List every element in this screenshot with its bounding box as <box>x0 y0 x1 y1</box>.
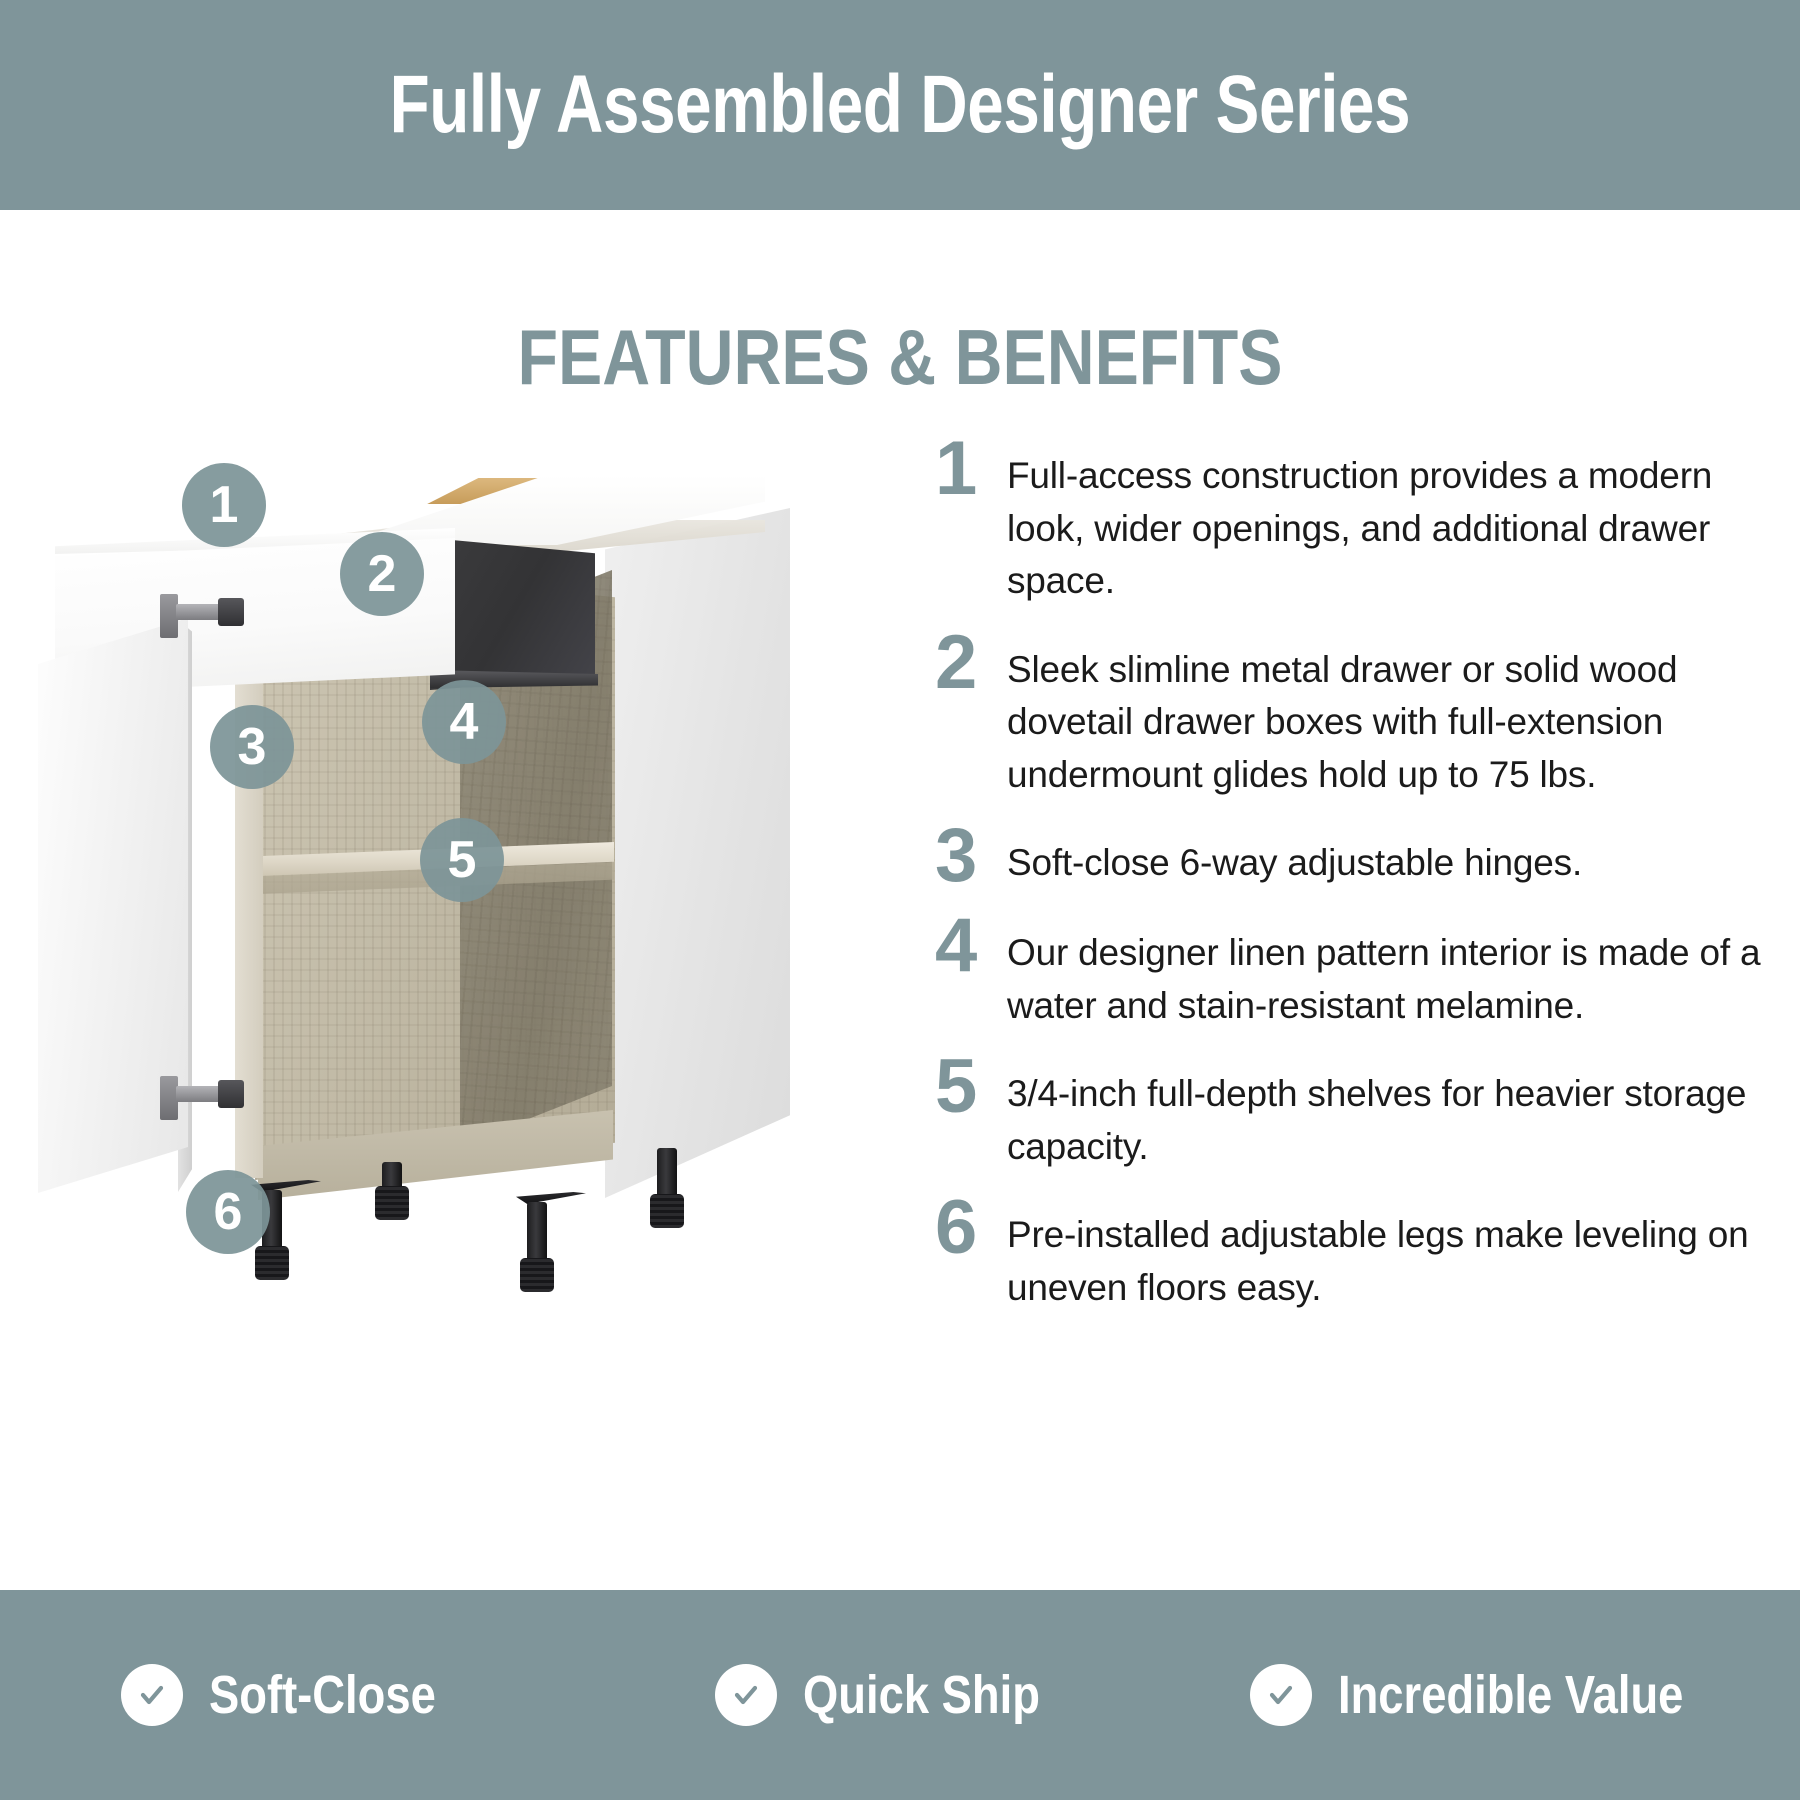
check-circle-icon <box>121 1664 183 1726</box>
feature-number: 2 <box>935 628 1007 698</box>
feature-item: 5 3/4-inch full-depth shelves for heavie… <box>935 1058 1765 1173</box>
section-heading: FEATURES & BENEFITS <box>0 318 1800 396</box>
feature-text: Full-access construction provides a mode… <box>1007 440 1765 608</box>
feature-item: 3 Soft-close 6-way adjustable hinges. <box>935 827 1765 891</box>
footer-badge-incredible-value: Incredible Value <box>1200 1664 1800 1726</box>
feature-number: 4 <box>935 911 1007 981</box>
product-image <box>30 420 910 1420</box>
callout-badge-3: 3 <box>210 705 294 789</box>
footer-label: Quick Ship <box>803 1668 1040 1722</box>
callout-badge-4: 4 <box>422 680 506 764</box>
callout-number: 3 <box>238 721 267 773</box>
footer-label: Incredible Value <box>1338 1668 1683 1722</box>
hinge-bottom-icon <box>160 1070 246 1122</box>
callout-number: 2 <box>368 548 397 600</box>
feature-item: 1 Full-access construction provides a mo… <box>935 440 1765 608</box>
feature-number: 5 <box>935 1052 1007 1122</box>
cabinet-right-side-panel <box>605 508 790 1198</box>
callout-number: 1 <box>210 479 239 531</box>
page-header: Fully Assembled Designer Series <box>0 0 1800 210</box>
footer-badge-soft-close: Soft-Close <box>0 1664 600 1726</box>
callout-badge-6: 6 <box>186 1170 270 1254</box>
feature-number: 3 <box>935 821 1007 891</box>
callout-badge-1: 1 <box>182 463 266 547</box>
feature-item: 2 Sleek slimline metal drawer or solid w… <box>935 634 1765 802</box>
main-content: 1 2 3 4 5 6 1 Full-access construction p… <box>0 420 1800 1590</box>
cabinet-illustration <box>30 420 910 1420</box>
section-heading-text: FEATURES & BENEFITS <box>518 318 1283 396</box>
callout-badge-5: 5 <box>420 818 504 902</box>
feature-number: 1 <box>935 434 1007 504</box>
callout-number: 5 <box>448 834 477 886</box>
feature-item: 4 Our designer linen pattern interior is… <box>935 917 1765 1032</box>
feature-number: 6 <box>935 1193 1007 1263</box>
feature-text: Pre-installed adjustable legs make level… <box>1007 1199 1765 1314</box>
callout-number: 6 <box>214 1186 243 1238</box>
feature-text: Soft-close 6-way adjustable hinges. <box>1007 827 1765 890</box>
feature-text: 3/4-inch full-depth shelves for heavier … <box>1007 1058 1765 1173</box>
hinge-top-icon <box>160 588 246 640</box>
callout-number: 4 <box>450 696 479 748</box>
features-list: 1 Full-access construction provides a mo… <box>935 440 1765 1340</box>
callout-badge-2: 2 <box>340 532 424 616</box>
feature-item: 6 Pre-installed adjustable legs make lev… <box>935 1199 1765 1314</box>
footer-badge-quick-ship: Quick Ship <box>600 1664 1200 1726</box>
page-title: Fully Assembled Designer Series <box>390 64 1411 146</box>
footer-label: Soft-Close <box>209 1668 436 1722</box>
feature-text: Our designer linen pattern interior is m… <box>1007 917 1765 1032</box>
check-circle-icon <box>1250 1664 1312 1726</box>
check-circle-icon <box>715 1664 777 1726</box>
page-footer: Soft-Close Quick Ship Incredible Value <box>0 1590 1800 1800</box>
feature-text: Sleek slimline metal drawer or solid woo… <box>1007 634 1765 802</box>
